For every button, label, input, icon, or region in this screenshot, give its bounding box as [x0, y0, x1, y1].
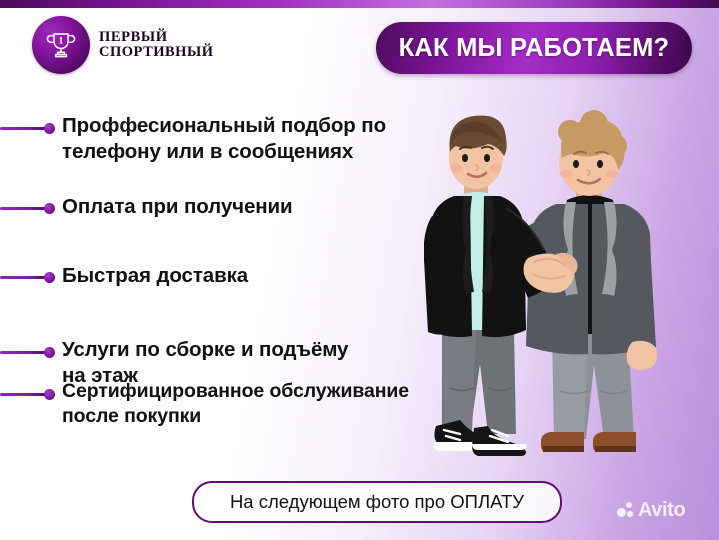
bullet-connector-line [0, 127, 47, 130]
list-item: Проффесиональный подбор по телефону или … [0, 96, 440, 158]
avito-dots-icon [617, 502, 634, 518]
trophy-number-one-icon: 1 [32, 16, 90, 74]
brand-logo: 1 ПЕРВЫЙ СПОРТИВНЫЙ [32, 16, 213, 74]
brand-name-line-1: ПЕРВЫЙ [99, 30, 213, 45]
list-item-text: Оплата при получении [62, 158, 440, 220]
list-item-line-1: Быстрая доставка [62, 264, 248, 287]
bullet-dot-icon [44, 123, 55, 134]
brand-name-line-2: СПОРТИВНЫЙ [99, 45, 213, 60]
bullet-connector-line [0, 207, 47, 210]
page-title: КАК МЫ РАБОТАЕМ? [399, 34, 670, 63]
two-men-handshake-illustration [424, 96, 719, 466]
list-item-line-1: Сертифицированное обслуживание [62, 380, 409, 402]
svg-text:1: 1 [59, 36, 64, 46]
next-photo-note: На следующем фото про ОПЛАТУ [192, 481, 562, 523]
list-item: Сертифицированное обслуживание после пок… [0, 366, 440, 426]
list-item-line-1: Оплата при получении [62, 195, 293, 218]
list-item: Оплата при получении [0, 158, 440, 230]
avito-watermark-text: Avito [638, 500, 685, 520]
avito-watermark: Avito [617, 500, 685, 520]
bullet-dot-icon [44, 203, 55, 214]
list-item-text: Проффесиональный подбор по телефону или … [62, 96, 440, 165]
list-item-line-2: после покупки [62, 405, 201, 427]
bullet-dot-icon [44, 272, 55, 283]
top-accent-strip [0, 0, 719, 8]
list-item: Быстрая доставка [0, 230, 440, 302]
bullet-connector-line [0, 351, 47, 354]
list-item-text: Быстрая доставка [62, 230, 440, 289]
list-item-text: Сертифицированное обслуживание после пок… [62, 366, 440, 429]
bullet-dot-icon [44, 347, 55, 358]
bullet-connector-line [0, 393, 47, 396]
next-photo-note-text: На следующем фото про ОПЛАТУ [230, 491, 524, 513]
list-item-line-1: Проффесиональный подбор по [62, 114, 386, 137]
header-banner: КАК МЫ РАБОТАЕМ? [376, 22, 692, 74]
bullet-dot-icon [44, 389, 55, 400]
promo-poster: 1 ПЕРВЫЙ СПОРТИВНЫЙ КАК МЫ РАБОТАЕМ? Про… [0, 0, 719, 540]
brand-name: ПЕРВЫЙ СПОРТИВНЫЙ [99, 30, 213, 60]
bullet-connector-line [0, 276, 47, 279]
list-item-line-1: Услуги по сборке и подъёму [62, 338, 348, 361]
list-item: Услуги по сборке и подъёму на этаж [0, 302, 440, 366]
benefits-list: Проффесиональный подбор по телефону или … [0, 96, 440, 426]
